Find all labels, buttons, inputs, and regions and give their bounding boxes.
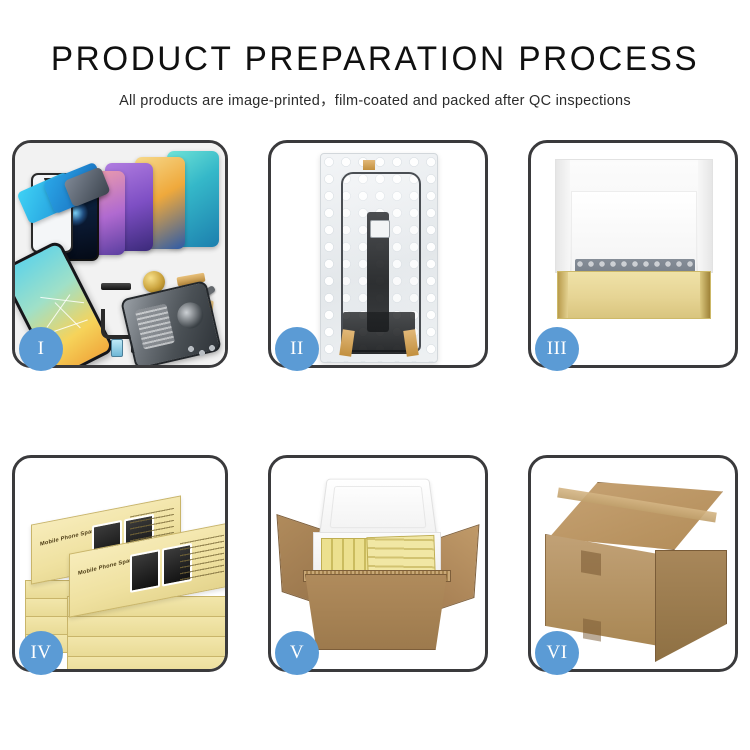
foam-lid-icon <box>319 479 438 538</box>
sealed-carton-illustration <box>545 482 723 653</box>
screws-icon <box>187 345 217 357</box>
step-panel-sealed-carton: VI <box>528 455 738 672</box>
process-steps-grid: I II <box>0 0 750 750</box>
step-badge-3: III <box>535 327 579 371</box>
step-badge-5: V <box>275 631 319 675</box>
connector-icon <box>370 220 390 238</box>
tape-icon <box>363 160 375 170</box>
component-icon <box>111 339 123 357</box>
step-panel-stacked-boxes: Mobile Phone Spare Parts Mobile Phone Sp… <box>12 455 228 672</box>
carton-front-face <box>545 534 659 646</box>
kraft-box-base-icon <box>557 271 711 319</box>
crack-line <box>54 302 80 328</box>
step-panel-foam-carton: V <box>268 455 488 672</box>
step-panel-bubble-wrap: II <box>268 140 488 368</box>
carton-body-icon <box>305 574 447 650</box>
connector-strip-icon <box>101 283 131 290</box>
step-badge-2: II <box>275 327 319 371</box>
carton-side-face <box>655 550 727 662</box>
box-window-icon <box>130 549 160 593</box>
stacked-box <box>67 616 225 637</box>
step-panel-product-parts: I <box>12 140 228 368</box>
box-checklist-lines <box>180 535 224 584</box>
stacked-box <box>67 656 225 669</box>
step-badge-6: VI <box>535 631 579 675</box>
step-badge-4: IV <box>19 631 63 675</box>
carton-label-patch <box>581 550 601 576</box>
step-panel-inner-box-foam: III <box>528 140 738 368</box>
stacked-box <box>67 636 225 657</box>
box-stack-illustration: Mobile Phone Spare Parts Mobile Phone Sp… <box>25 476 217 661</box>
carton-label-patch <box>583 618 601 641</box>
step-badge-1: I <box>19 327 63 371</box>
bubble-bag-icon <box>320 153 438 363</box>
